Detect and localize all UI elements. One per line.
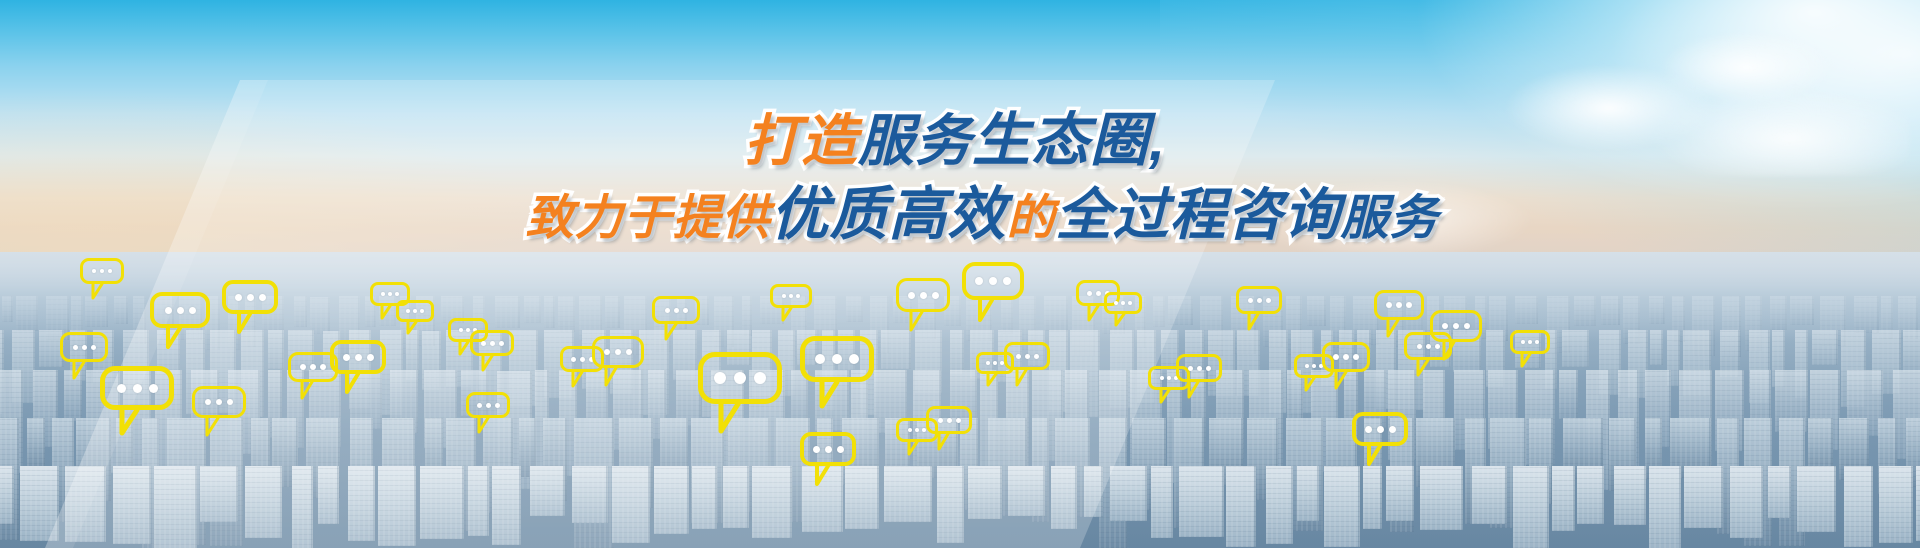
speech-bubble-tail: [379, 306, 393, 324]
speech-bubble-icon: [770, 284, 812, 308]
speech-bubble-tail: [1365, 446, 1384, 472]
speech-bubble-dot: [1528, 340, 1532, 344]
speech-bubble-dot: [92, 269, 96, 273]
speech-bubble-dot: [813, 446, 820, 453]
speech-bubble-dot: [495, 403, 500, 408]
speech-bubble-dot: [932, 292, 939, 299]
building-block: [1515, 296, 1538, 324]
speech-bubble-dot: [1333, 354, 1339, 360]
building-block: [845, 466, 879, 529]
building-block: [1903, 330, 1920, 372]
building-block: [1730, 466, 1763, 538]
building-block: [1051, 466, 1077, 529]
building-block: [348, 466, 375, 541]
speech-bubble-dot: [1025, 354, 1030, 359]
speech-bubble-dot: [714, 372, 726, 384]
building-block: [1001, 296, 1013, 334]
speech-bubble-dot: [1343, 354, 1349, 360]
building-block: [65, 466, 106, 542]
building-block: [1472, 466, 1507, 524]
speech-bubble-dot: [343, 354, 350, 361]
speech-bubble-dot: [1365, 426, 1372, 433]
speech-bubble-dot: [1389, 426, 1396, 433]
speech-bubble-dot: [259, 294, 266, 301]
building-block: [1854, 296, 1879, 333]
building-block: [468, 466, 489, 536]
speech-bubble-dot: [683, 308, 688, 313]
speech-bubble-tail: [1385, 320, 1401, 342]
building-block: [1420, 466, 1463, 530]
building-block: [294, 296, 307, 327]
speech-bubble-dot: [956, 418, 961, 423]
building-block: [1363, 466, 1382, 529]
building-block: [1513, 466, 1549, 548]
building-block: [1297, 466, 1319, 521]
speech-bubble-dot: [310, 364, 316, 370]
speech-bubble-dot: [216, 399, 222, 405]
speech-bubble-dot: [133, 384, 142, 393]
speech-bubble-tail: [1415, 360, 1431, 381]
speech-bubble-dot: [1206, 366, 1211, 371]
speech-bubble-dot: [149, 384, 158, 393]
building-block: [530, 466, 565, 516]
speech-bubble-dot: [1003, 277, 1011, 285]
building-block: [1307, 296, 1326, 326]
speech-bubble-icon: [800, 432, 856, 466]
speech-bubble-icon: [800, 336, 874, 382]
speech-bubble-dot: [1426, 344, 1431, 349]
speech-bubble-dot: [1167, 376, 1171, 380]
speech-bubble-dot: [782, 294, 786, 298]
speech-bubble-icon: [896, 278, 950, 312]
building-block: [1552, 466, 1575, 531]
building-block: [654, 466, 689, 534]
speech-bubble-dot: [674, 308, 679, 313]
speech-bubble-icon: [1104, 292, 1142, 314]
building-block: [2, 296, 13, 322]
speech-bubble-dot: [1417, 344, 1422, 349]
speech-bubble-tail: [813, 466, 832, 492]
speech-bubble-tail: [936, 434, 951, 455]
building-block: [1226, 466, 1256, 547]
building-block: [881, 330, 911, 369]
speech-bubble-dot: [1535, 340, 1539, 344]
speech-bubble-dot: [1034, 354, 1039, 359]
speech-bubble-dot: [108, 269, 112, 273]
building-block: [378, 466, 416, 546]
speech-bubble-icon: [1004, 342, 1050, 370]
speech-bubble-icon: [1236, 286, 1282, 314]
building-block: [723, 466, 749, 528]
speech-bubble-dot: [481, 341, 486, 346]
building-block: [544, 296, 555, 328]
building-block: [1110, 466, 1147, 521]
speech-bubble-dot: [1248, 298, 1253, 303]
speech-bubble-dot: [665, 308, 670, 313]
speech-bubble-dot: [938, 418, 943, 423]
speech-bubble-dot: [381, 292, 385, 296]
speech-bubble-dot: [1396, 302, 1402, 308]
building-block: [1008, 466, 1045, 516]
speech-bubble-tail: [976, 300, 996, 328]
speech-bubble-icon: [1322, 342, 1370, 372]
speech-bubble-dot: [490, 341, 495, 346]
speech-bubble-tail: [817, 382, 842, 416]
speech-bubble-icon: [100, 366, 174, 410]
building-block: [1559, 370, 1578, 419]
building-block: [884, 466, 932, 522]
speech-bubble-tail: [164, 328, 184, 355]
speech-bubble-dot: [908, 292, 915, 299]
building-block: [1650, 330, 1663, 365]
building-block: [1044, 296, 1068, 331]
building-block: [1614, 466, 1646, 525]
speech-bubble-dot: [1406, 302, 1412, 308]
speech-bubble-icon: [1430, 310, 1482, 342]
speech-bubble-icon: [396, 300, 434, 322]
speech-bubble-dot: [1087, 291, 1092, 296]
building-block: [310, 297, 330, 334]
speech-bubble-tail: [985, 374, 999, 391]
building-block: [1649, 466, 1681, 548]
speech-bubble-dot: [975, 277, 983, 285]
speech-bubble-tail: [117, 410, 142, 443]
building-block: [1790, 296, 1814, 325]
building-block: [495, 296, 520, 328]
speech-bubble-dot: [825, 446, 832, 453]
building-block: [154, 466, 197, 548]
building-block: [1684, 466, 1723, 528]
speech-bubble-dot: [355, 354, 362, 361]
speech-bubble-icon: [926, 406, 972, 434]
building-block: [1768, 466, 1791, 518]
building-block: [1844, 466, 1873, 547]
building-block: [268, 330, 284, 369]
speech-bubble-dot: [986, 361, 990, 365]
building-block: [492, 466, 521, 545]
building-block: [1574, 296, 1596, 326]
speech-bubble-dot: [604, 349, 610, 355]
speech-bubble-dot: [1096, 291, 1101, 296]
building-block: [114, 296, 128, 324]
speech-bubble-tail: [90, 284, 105, 304]
speech-bubble-tail: [1113, 314, 1127, 331]
speech-bubble-dot: [1435, 344, 1440, 349]
building-block: [1084, 466, 1103, 517]
speech-bubble-dot: [300, 364, 306, 370]
speech-bubble-dot: [571, 357, 576, 362]
speech-bubble-tail: [476, 418, 491, 438]
speech-bubble-dot: [205, 399, 211, 405]
building-block: [1324, 466, 1360, 547]
speech-bubble-tail: [204, 418, 221, 441]
building-block: [1562, 330, 1589, 367]
building-block: [0, 466, 14, 524]
speech-bubble-dot: [82, 345, 87, 350]
speech-bubble-icon: [330, 340, 386, 374]
speech-bubble-dot: [1121, 301, 1125, 305]
speech-bubble-dot: [1197, 366, 1202, 371]
speech-bubble-dot: [832, 354, 842, 364]
speech-bubble-tail: [299, 382, 315, 404]
speech-bubble-dot: [367, 354, 374, 361]
speech-bubble-dot: [1386, 302, 1392, 308]
speech-bubble-dot: [1257, 298, 1262, 303]
speech-bubble-dot: [117, 384, 126, 393]
speech-bubble-icon: [962, 262, 1024, 300]
speech-bubble-dot: [837, 446, 844, 453]
speech-bubble-tail: [663, 324, 679, 345]
building-block: [20, 466, 59, 541]
speech-bubble-icon: [592, 336, 644, 368]
speech-bubble-tail: [1333, 372, 1349, 394]
building-block: [1151, 466, 1173, 538]
speech-bubble-dot: [413, 309, 417, 313]
speech-bubble-dot: [420, 309, 424, 313]
speech-bubble-dot: [388, 292, 392, 296]
speech-bubble-dot: [734, 372, 746, 384]
speech-bubble-dot: [91, 345, 96, 350]
building-block: [950, 330, 964, 374]
speech-bubble-dot: [177, 307, 184, 314]
building-block: [113, 466, 151, 544]
building-block: [16, 296, 38, 331]
speech-bubble-dot: [1442, 323, 1448, 329]
speech-bubble-icon: [192, 386, 246, 418]
speech-bubble-dot: [1453, 323, 1459, 329]
skyline-buildings: [0, 252, 1920, 548]
speech-bubble-dot: [459, 328, 463, 332]
building-block: [1879, 466, 1913, 543]
speech-bubble-dot: [235, 294, 242, 301]
speech-bubble-dot: [1160, 376, 1164, 380]
speech-bubble-dot: [395, 292, 399, 296]
building-block: [1649, 296, 1665, 324]
speech-bubble-dot: [920, 292, 927, 299]
building-block: [605, 296, 620, 328]
speech-bubble-dot: [100, 269, 104, 273]
speech-bubble-icon: [222, 280, 278, 314]
building-block: [612, 466, 650, 543]
building-block: [1266, 466, 1293, 544]
speech-bubble-dot: [754, 372, 766, 384]
building-block: [318, 466, 339, 524]
speech-bubble-dot: [227, 399, 233, 405]
speech-bubble-tail: [1086, 306, 1101, 326]
speech-bubble-dot: [1377, 426, 1384, 433]
building-block: [420, 466, 464, 539]
building-block: [1797, 466, 1836, 532]
building-block: [968, 466, 1002, 519]
speech-bubble-dot: [1114, 301, 1118, 305]
speech-bubble-dot: [499, 341, 504, 346]
speech-bubble-icon: [470, 330, 514, 356]
building-block: [1179, 466, 1224, 537]
building-block: [245, 466, 282, 538]
speech-bubble-tail: [1246, 314, 1261, 335]
speech-bubble-dot: [406, 309, 410, 313]
speech-bubble-tail: [480, 356, 495, 376]
hero-banner: 打造服务生态圈, 致力于提供优质高效的全过程咨询服务: [0, 0, 1920, 548]
speech-bubble-dot: [1128, 301, 1132, 305]
speech-bubble-icon: [1352, 412, 1408, 446]
speech-bubble-dot: [915, 428, 919, 432]
speech-bubble-tail: [908, 312, 925, 336]
speech-bubble-tail: [1519, 354, 1533, 372]
building-block: [1770, 296, 1787, 330]
speech-bubble-tail: [716, 404, 743, 441]
speech-bubble-dot: [320, 364, 326, 370]
speech-bubble-icon: [60, 332, 108, 362]
speech-bubble-dot: [796, 294, 800, 298]
speech-bubble-tail: [457, 342, 471, 360]
speech-bubble-tail: [1441, 342, 1457, 365]
speech-bubble-dot: [73, 345, 78, 350]
speech-bubble-tail: [343, 374, 362, 400]
speech-bubble-tail: [71, 362, 87, 384]
speech-bubble-icon: [1374, 290, 1424, 320]
speech-bubble-dot: [993, 361, 997, 365]
building-block: [572, 466, 608, 523]
building-block: [937, 466, 964, 543]
speech-bubble-dot: [1521, 340, 1525, 344]
speech-bubble-dot: [580, 357, 585, 362]
building-block: [752, 466, 792, 538]
speech-bubble-dot: [989, 277, 997, 285]
speech-bubble-dot: [1353, 354, 1359, 360]
building-block: [1601, 296, 1620, 325]
speech-bubble-dot: [189, 307, 196, 314]
building-block: [558, 296, 575, 332]
speech-bubble-dot: [1464, 323, 1470, 329]
building-block: [292, 466, 313, 548]
speech-bubble-tail: [1303, 378, 1317, 396]
speech-bubble-icon: [698, 352, 782, 404]
building-block: [846, 296, 863, 322]
speech-bubble-dot: [626, 349, 632, 355]
speech-bubble-dot: [466, 328, 470, 332]
building-block: [1168, 296, 1193, 325]
speech-bubble-dot: [1312, 364, 1316, 368]
speech-bubble-icon: [150, 292, 210, 328]
speech-bubble-tail: [780, 308, 794, 326]
speech-bubble-dot: [477, 403, 482, 408]
speech-bubble-tail: [235, 314, 254, 340]
speech-bubble-dot: [247, 294, 254, 301]
speech-bubble-tail: [1158, 390, 1172, 408]
speech-bubble-dot: [789, 294, 793, 298]
building-block: [1577, 466, 1604, 524]
city-skyline-photo: [0, 252, 1920, 548]
speech-bubble-icon: [466, 392, 510, 418]
speech-bubble-dot: [849, 354, 859, 364]
speech-bubble-dot: [815, 354, 825, 364]
speech-bubble-tail: [570, 372, 585, 392]
speech-bubble-icon: [1176, 354, 1222, 382]
speech-bubble-dot: [165, 307, 172, 314]
speech-bubble-dot: [947, 418, 952, 423]
building-block: [1386, 466, 1414, 521]
speech-bubble-dot: [1305, 364, 1309, 368]
building-block: [1153, 296, 1165, 327]
speech-bubble-icon: [1510, 330, 1550, 354]
speech-bubble-dot: [615, 349, 621, 355]
building-block: [524, 296, 541, 323]
speech-bubble-dot: [922, 428, 926, 432]
speech-bubble-dot: [1266, 298, 1271, 303]
building-block: [692, 466, 717, 529]
speech-bubble-tail: [1014, 370, 1029, 391]
speech-bubble-dot: [486, 403, 491, 408]
speech-bubble-tail: [405, 322, 419, 339]
speech-bubble-dot: [1016, 354, 1021, 359]
speech-bubble-tail: [906, 442, 920, 460]
building-block: [200, 466, 238, 522]
speech-bubble-icon: [652, 296, 700, 324]
speech-bubble-dot: [908, 428, 912, 432]
building-block: [1812, 330, 1838, 365]
speech-bubble-dot: [1188, 366, 1193, 371]
speech-bubble-tail: [603, 368, 619, 391]
building-block: [1916, 466, 1920, 541]
speech-bubble-icon: [80, 258, 124, 284]
speech-bubble-tail: [1186, 382, 1201, 403]
